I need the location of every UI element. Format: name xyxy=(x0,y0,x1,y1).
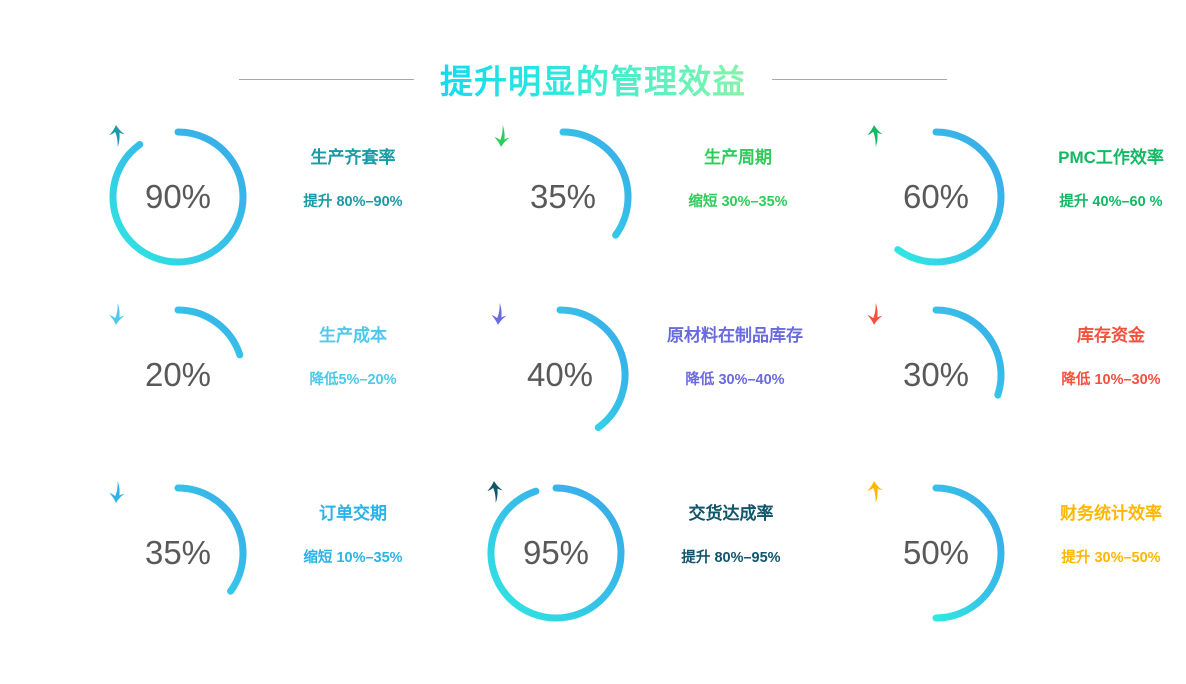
header-divider-left xyxy=(239,79,414,80)
metric-cell: 30% 库存资金 降低 10%–30% xyxy=(826,296,1186,474)
metric-cell: 95% 交货达成率 提升 80%–95% xyxy=(441,474,826,652)
metric-sublabel: 提升 30%–50% xyxy=(1061,550,1160,567)
metric-sublabel: 缩短 10%–35% xyxy=(303,550,402,567)
metric-text: 原材料在制品库存 降低 30%–40% xyxy=(647,326,823,390)
metric-text: 订单交期 缩短 10%–35% xyxy=(265,504,441,568)
metric-cell: 60% PMC工作效率 提升 40%–60 % xyxy=(826,118,1186,296)
page-header: 提升明显的管理效益 xyxy=(0,55,1186,103)
metric-text: 库存资金 降低 10%–30% xyxy=(1023,326,1186,390)
arrow-down-icon xyxy=(485,301,511,327)
arrow-down-icon xyxy=(488,123,514,149)
metric-text: 生产成本 降低5%–20% xyxy=(265,326,441,390)
progress-ring-center: 90% xyxy=(103,122,253,272)
percent-value: 35% xyxy=(145,536,211,569)
arrow-down-icon xyxy=(103,301,129,327)
arrow-up-icon xyxy=(861,479,887,505)
progress-ring-center: 20% xyxy=(103,300,253,450)
progress-ring: 90% xyxy=(103,122,253,272)
metric-label: 生产齐套率 xyxy=(311,148,396,168)
percent-value: 20% xyxy=(145,358,211,391)
percent-value: 90% xyxy=(145,180,211,213)
progress-ring-center: 50% xyxy=(861,478,1011,628)
progress-ring: 60% xyxy=(861,122,1011,272)
progress-ring: 35% xyxy=(103,478,253,628)
percent-value: 60% xyxy=(903,180,969,213)
metric-cell: 90% 生产齐套率 提升 80%–90% xyxy=(0,118,441,296)
metric-label: 财务统计效率 xyxy=(1060,504,1162,524)
metric-label: 订单交期 xyxy=(319,504,387,524)
progress-ring-center: 60% xyxy=(861,122,1011,272)
progress-ring-center: 35% xyxy=(103,478,253,628)
arrow-up-icon xyxy=(103,123,129,149)
metric-text: 生产齐套率 提升 80%–90% xyxy=(265,148,441,212)
metric-label: 原材料在制品库存 xyxy=(667,326,803,346)
progress-ring: 95% xyxy=(481,478,631,628)
metric-sublabel: 降低 10%–30% xyxy=(1061,372,1160,389)
percent-value: 35% xyxy=(530,180,596,213)
header-divider-right xyxy=(772,79,947,80)
progress-ring-center: 95% xyxy=(481,478,631,628)
percent-value: 30% xyxy=(903,358,969,391)
metric-sublabel: 降低 30%–40% xyxy=(685,372,784,389)
metrics-grid: 90% 生产齐套率 提升 80%–90% xyxy=(0,118,1186,658)
metric-text: PMC工作效率 提升 40%–60 % xyxy=(1023,148,1186,212)
metric-cell: 40% 原材料在制品库存 降低 30%–40% xyxy=(441,296,826,474)
metric-sublabel: 提升 80%–95% xyxy=(681,550,780,567)
metric-label: 生产成本 xyxy=(319,326,387,346)
metric-sublabel: 缩短 30%–35% xyxy=(688,194,787,211)
progress-ring-center: 30% xyxy=(861,300,1011,450)
progress-ring: 20% xyxy=(103,300,253,450)
arrow-up-icon xyxy=(481,479,507,505)
progress-ring: 30% xyxy=(861,300,1011,450)
metric-cell: 50% 财务统计效率 提升 30%–50% xyxy=(826,474,1186,652)
arrow-down-icon xyxy=(103,479,129,505)
metric-label: PMC工作效率 xyxy=(1058,148,1164,168)
percent-value: 40% xyxy=(527,358,593,391)
arrow-down-icon xyxy=(861,301,887,327)
metric-text: 财务统计效率 提升 30%–50% xyxy=(1023,504,1186,568)
arrow-up-icon xyxy=(861,123,887,149)
progress-ring: 40% xyxy=(485,300,635,450)
metric-sublabel: 降低5%–20% xyxy=(309,372,396,389)
metric-label: 交货达成率 xyxy=(689,504,774,524)
metric-cell: 35% 订单交期 缩短 10%–35% xyxy=(0,474,441,652)
percent-value: 50% xyxy=(903,536,969,569)
progress-ring: 35% xyxy=(488,122,638,272)
progress-ring-center: 35% xyxy=(488,122,638,272)
progress-ring-center: 40% xyxy=(485,300,635,450)
metric-sublabel: 提升 40%–60 % xyxy=(1059,194,1162,211)
metric-sublabel: 提升 80%–90% xyxy=(303,194,402,211)
progress-ring: 50% xyxy=(861,478,1011,628)
metric-cell: 20% 生产成本 降低5%–20% xyxy=(0,296,441,474)
metric-cell: 35% 生产周期 缩短 30%–35% xyxy=(441,118,826,296)
metric-label: 生产周期 xyxy=(704,148,772,168)
percent-value: 95% xyxy=(523,536,589,569)
metric-text: 生产周期 缩短 30%–35% xyxy=(650,148,826,212)
metric-text: 交货达成率 提升 80%–95% xyxy=(643,504,819,568)
page-title: 提升明显的管理效益 xyxy=(440,55,746,103)
metric-label: 库存资金 xyxy=(1077,326,1145,346)
